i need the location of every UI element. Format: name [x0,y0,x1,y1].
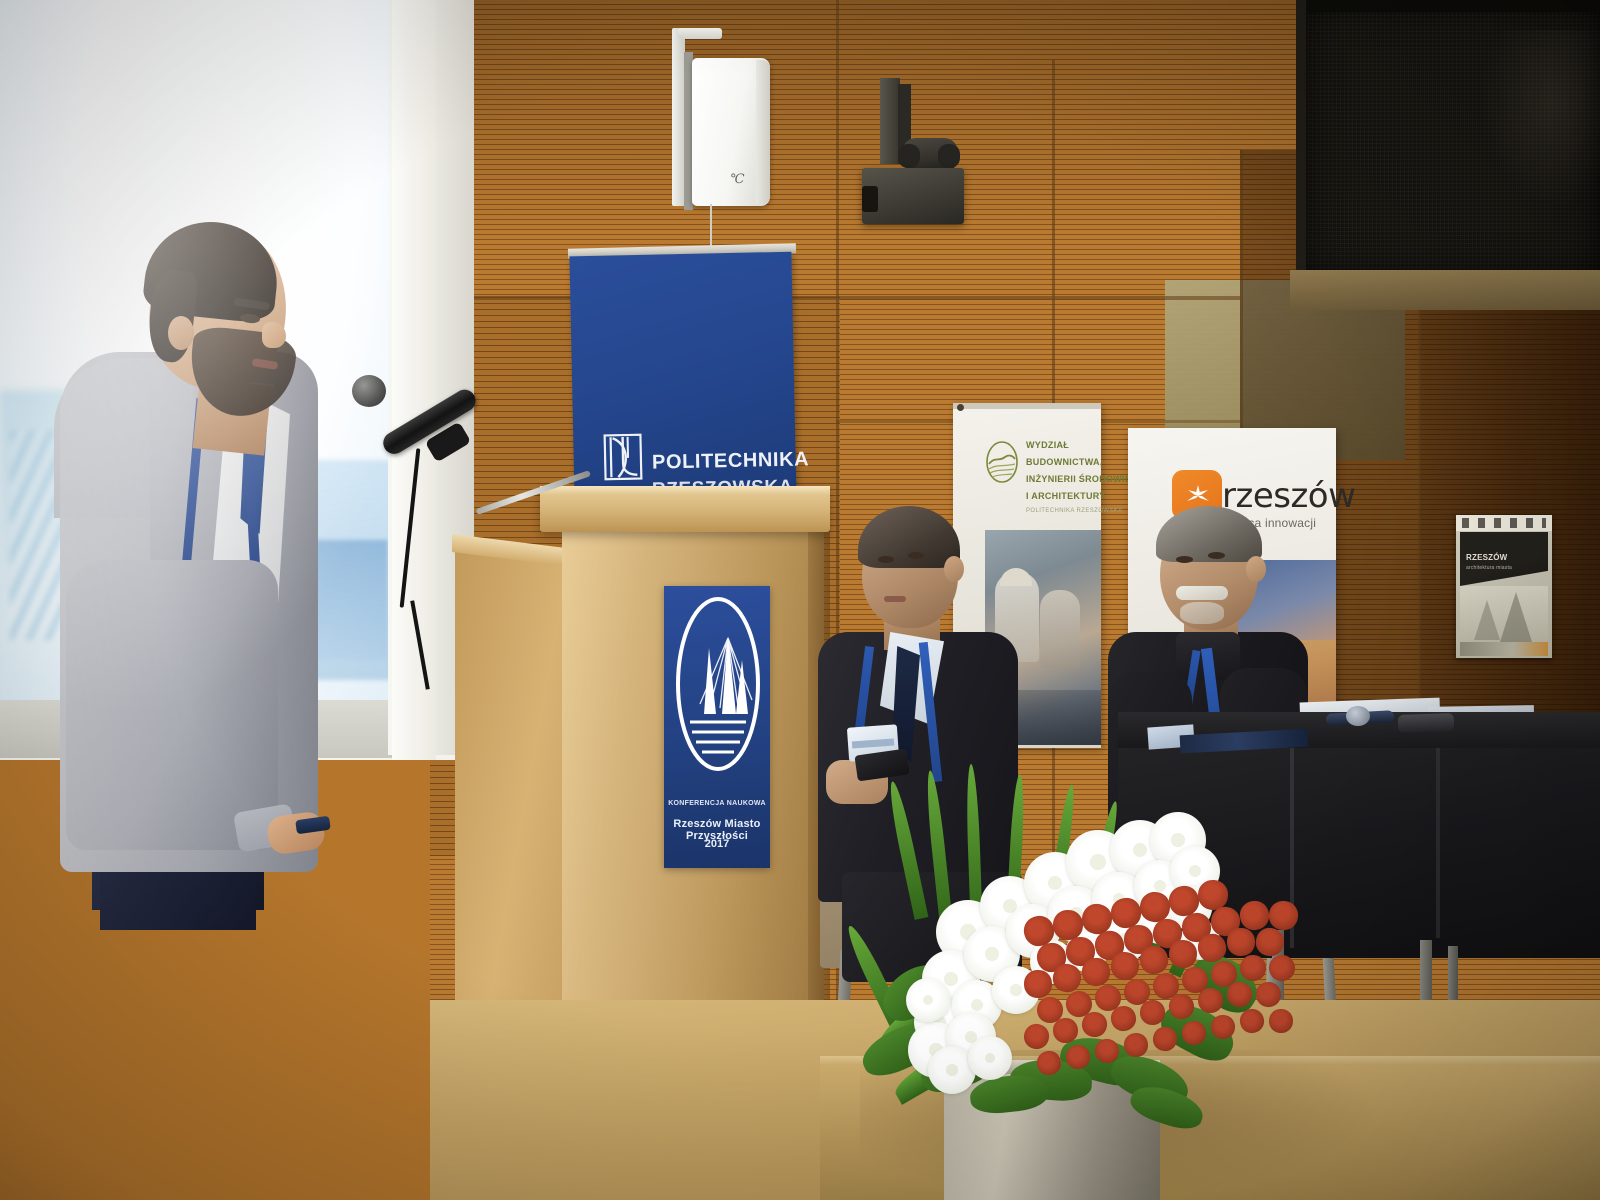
projector-mount-pole [880,78,900,164]
red-flower [1269,1009,1293,1033]
red-flower [1210,1014,1237,1041]
red-flower [1123,1032,1149,1058]
red-flower [1024,970,1053,999]
red-flower [1151,1025,1180,1054]
rzeszow-star-icon [1186,484,1210,508]
microphone-head-icon [1346,706,1370,726]
panelist-left-eye [908,552,924,559]
red-flower [1180,1019,1208,1047]
projector-mount-arm [938,144,960,168]
poster-footer-strip [1460,642,1548,656]
dark-panel-top-edge [1300,0,1600,12]
panelist-left-eye [878,556,894,563]
poster-header: KONFERENCJA NAUKOWA [668,800,766,807]
wall-ledge [1290,270,1600,310]
poster-year: 2017 [664,838,770,850]
red-flower [1239,954,1268,983]
white-wall-pillar [392,0,436,760]
speaker-wire [710,204,712,246]
faculty-line3: INŻYNIERII ŚRODOWISKA [1026,474,1145,484]
red-flower [1034,1048,1063,1077]
rollup-photo-figure [1040,590,1080,668]
poster-graphic-shape [1474,600,1500,640]
speaker-bracket-arm [678,28,722,39]
microphone-head-icon [352,375,386,407]
red-flower [1253,925,1286,958]
red-flower [1198,988,1224,1014]
panelist-left-mouth [884,596,906,602]
red-flower [1021,1021,1052,1052]
dark-panel-reflection [1480,30,1600,210]
red-flower [1237,1006,1267,1036]
panelist-right-eye [1208,552,1225,559]
speaker-grille [756,60,770,204]
podium-desktop-edge [540,486,830,495]
rollup-pin [957,404,964,411]
speaker-blazer-shading [60,352,318,872]
panelist-right-ear [1246,556,1266,582]
poster-subtitle: architektura miasta [1466,565,1512,571]
faculty-oval-logo [985,440,1019,484]
poster-title: RZESZÓW [1466,553,1507,562]
faculty-line4: I ARCHITEKTURY [1026,491,1106,501]
table-cloth-fold [1436,748,1440,938]
rzeszow-wordmark: rzeszów [1222,476,1355,516]
faculty-line5: POLITECHNIKA RZESZOWSKA [1026,508,1123,514]
white-flower [968,1036,1012,1080]
poster-sponsor-logos [1462,518,1546,528]
white-flower [906,978,950,1022]
projector-mount-arm [898,144,920,168]
red-flower [1168,939,1197,968]
projector-lens-icon [862,186,878,212]
red-flower [1092,1036,1123,1067]
faculty-line2: BUDOWNICTWA, [1026,457,1103,467]
red-flowers-cluster [1022,880,1290,1080]
red-flower [1226,927,1255,956]
red-flower [1139,999,1166,1026]
speaker-brand-logo: ℃ [730,172,752,186]
red-flower [1080,956,1111,987]
table-equipment [1398,713,1455,733]
red-flower [1052,1017,1080,1045]
rollup-top-rail [953,403,1101,409]
red-flower [1254,980,1282,1008]
conference-hall-photograph: ℃ POLITECHNIKA RZESZOWSKA [0,0,1600,1200]
prz-monogram-logo [604,434,643,481]
panelist-right-mustache [1176,586,1228,600]
panelist-left-ear [944,556,964,582]
banner-line1: POLITECHNIKA [652,448,810,474]
speaker-ear [168,316,194,350]
red-flower [1066,1045,1091,1070]
wall-seam [430,296,1240,300]
rzeszow-bridge-emblem [676,596,760,772]
panelist-right-beard [1180,602,1224,624]
poster-graphic-shape [1500,592,1532,642]
speaker-nose [262,322,286,348]
panelist-right-eye [1176,556,1193,563]
dark-panel-frame [1296,0,1306,282]
faculty-line1: WYDZIAŁ [1026,440,1069,450]
